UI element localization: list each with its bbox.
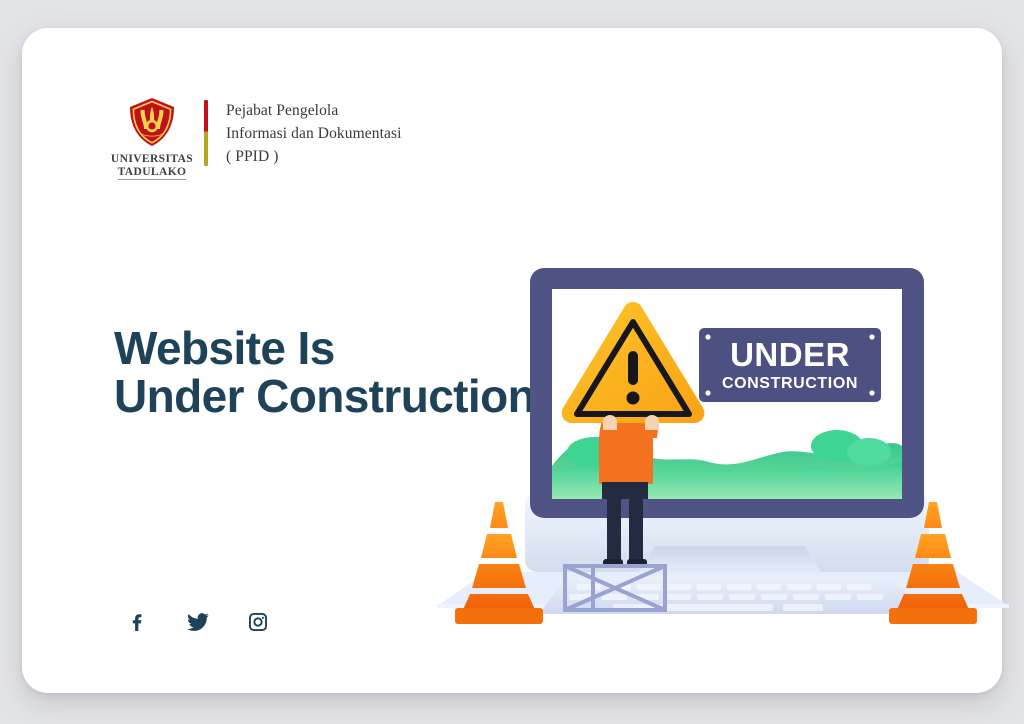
social-links [122,606,274,638]
worker-hand-right [645,415,659,430]
instagram-glyph [246,610,270,634]
brand-title-line-1: Pejabat Pengelola [226,100,402,123]
sign-text-under: UNDER [730,336,850,373]
university-logo: UNIVERSITAS TADULAKO [108,96,196,180]
cone-right-base [889,608,977,624]
under-construction-illustration: UNDER CONSTRUCTION [417,256,1017,628]
sign-rivet-tr [869,334,874,339]
twitter-icon[interactable] [182,606,214,638]
brand-title: Pejabat Pengelola Informasi dan Dokument… [226,96,402,169]
page-root: UNIVERSITAS TADULAKO Pejabat Pengelola I… [0,0,1024,724]
cone-left-tier-2 [481,534,517,558]
cone-right-tier-3 [906,564,960,588]
worker-hand-left [603,415,617,430]
cone-left-tier-1 [490,502,508,528]
cone-left-base [455,608,543,624]
warning-exclamation-dot [627,392,640,405]
facebook-icon[interactable] [122,606,154,638]
brand-divider [204,100,208,166]
warning-exclamation-bar [628,351,638,385]
sign-rivet-br [869,390,874,395]
cone-left-tier-3 [472,564,526,588]
worker-leg-right [629,494,643,566]
tadulako-crest-icon [126,96,178,150]
brand-lockup: UNIVERSITAS TADULAKO Pejabat Pengelola I… [108,96,402,180]
content-card: UNIVERSITAS TADULAKO Pejabat Pengelola I… [22,28,1002,693]
crest-line-1: UNIVERSITAS [111,153,193,166]
instagram-icon[interactable] [242,606,274,638]
twitter-glyph [185,609,211,635]
illustration-canvas: UNDER CONSTRUCTION [417,256,1017,628]
bush-right-2 [847,438,891,466]
under-construction-sign: UNDER CONSTRUCTION [699,328,881,402]
worker-leg-left [607,494,621,566]
sign-rivet-tl [705,334,710,339]
sign-rivet-bl [705,390,710,395]
brand-title-line-3: ( PPID ) [226,146,402,169]
facebook-glyph [126,610,150,634]
brand-title-line-2: Informasi dan Dokumentasi [226,123,402,146]
crest-line-2: TADULAKO [118,166,187,181]
cone-right-tier-2 [915,534,951,558]
sign-text-construction: CONSTRUCTION [722,375,858,392]
